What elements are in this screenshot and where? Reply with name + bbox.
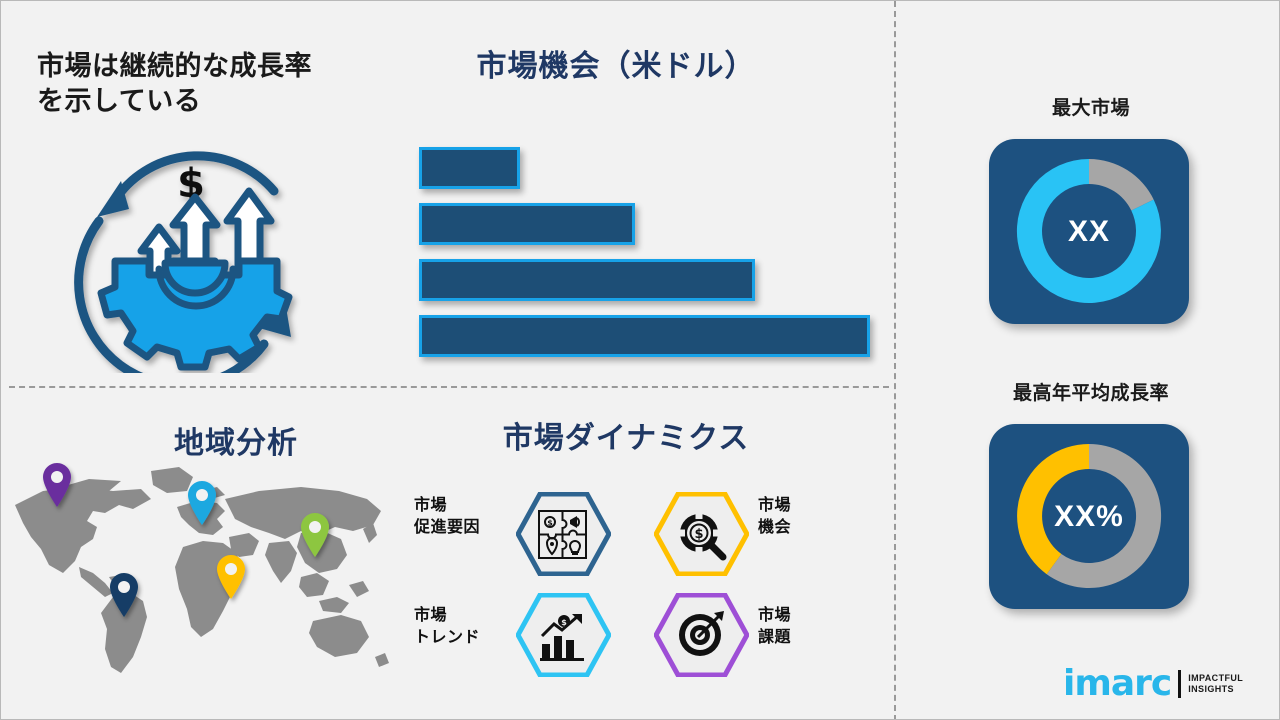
bar-1 [419, 147, 520, 189]
dynamics-label-challenges: 市場 課題 [758, 605, 850, 648]
dynamics-label-drivers: 市場 促進要因 [414, 495, 506, 538]
dynamics-hex-challenges[interactable] [654, 593, 749, 677]
largest-market-donut [989, 139, 1189, 324]
dynamics-label-trends: 市場 トレンド [414, 605, 506, 648]
dynamics-hex-drivers[interactable]: $ [516, 492, 611, 576]
largest-market-title: 最大市場 [961, 97, 1221, 121]
dynamics-hex-trends[interactable]: $ [516, 593, 611, 677]
svg-text:$: $ [694, 527, 703, 542]
bar-4 [419, 315, 870, 357]
growth-gear-arrows-icon: $ [69, 129, 319, 373]
cagr-card: XX% [989, 424, 1189, 609]
cagr-title: 最高年平均成長率 [951, 382, 1231, 406]
region-panel-title: 地域分析 [101, 426, 371, 462]
bar-3 [419, 259, 755, 301]
svg-text:$: $ [561, 618, 567, 627]
world-map-icon [1, 461, 401, 691]
imarc-logo: imarc IMPACTFUL INSIGHTS [1063, 661, 1263, 707]
logo-tagline-line2: INSIGHTS [1188, 684, 1243, 695]
svg-text:$: $ [547, 519, 553, 528]
infographic-slide: 市場は継続的な成長率 を示している $ [0, 0, 1280, 720]
logo-divider [1178, 670, 1181, 698]
logo-tagline-line1: IMPACTFUL [1188, 673, 1243, 684]
dynamics-label-opportunity: 市場 機会 [758, 495, 850, 538]
dynamics-hex-opportunity[interactable]: $ [654, 492, 749, 576]
vertical-divider [894, 1, 896, 720]
largest-market-card: XX [989, 139, 1189, 324]
market-opportunity-bar-chart [419, 147, 879, 355]
cagr-donut [989, 424, 1189, 609]
horizontal-divider [9, 386, 889, 388]
bar-chart-title: 市場機会（米ドル） [401, 49, 831, 85]
dynamics-panel-title: 市場ダイナミクス [406, 421, 846, 457]
growth-panel-title: 市場は継続的な成長率 を示している [37, 49, 387, 118]
bar-2 [419, 203, 635, 245]
logo-wordmark: imarc [1063, 666, 1171, 702]
